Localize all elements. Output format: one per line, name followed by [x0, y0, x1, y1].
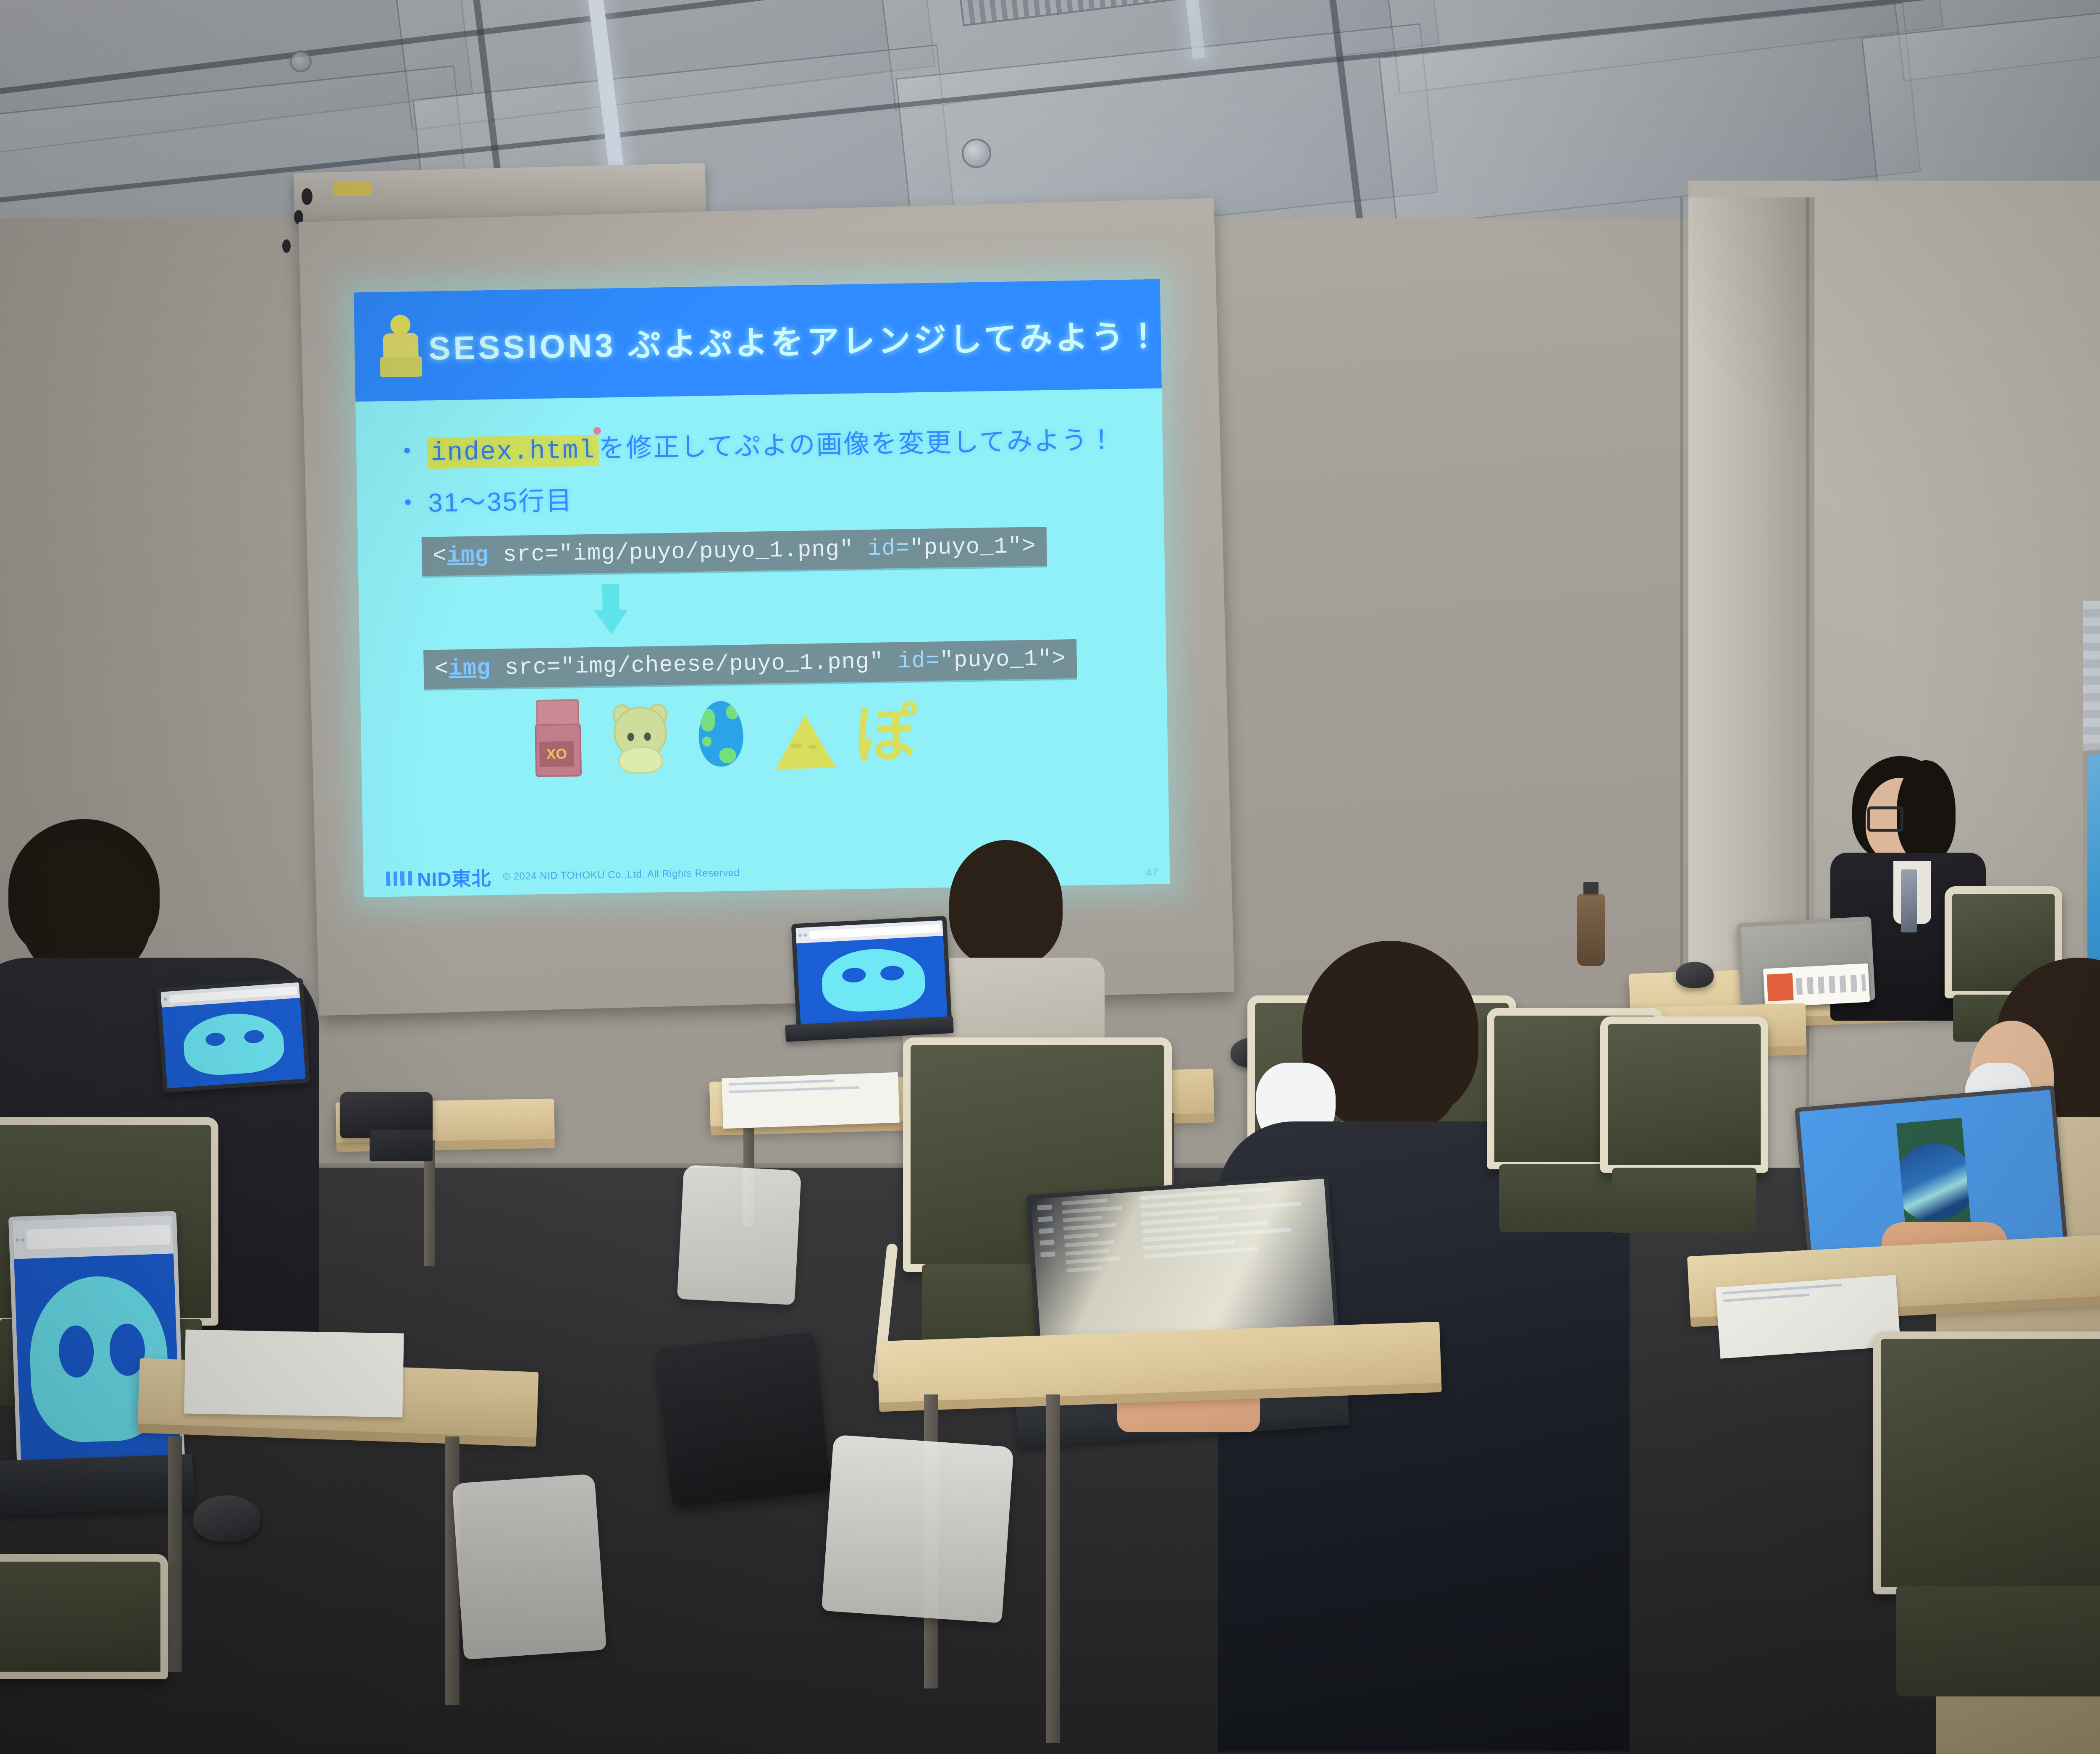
puyo-artwork [162, 998, 306, 1088]
instructor-necktie [1901, 869, 1917, 932]
glasses-icon [1867, 806, 1903, 832]
code-block-before: <img src="img/puyo/puyo_1.png" id="puyo_… [422, 527, 1047, 576]
housing-label-icon [334, 181, 372, 196]
xo-sauce-jar-icon: XO [524, 697, 588, 774]
front-left-card [184, 1329, 404, 1417]
code-attr-id: id= [853, 536, 910, 562]
slide-bullet-1: ・ index.html を修正してぷよの画像を変更してみよう！ [394, 418, 1129, 470]
seminar-room-photo: JUCB VIM 77 コンフォートホテル ワンダイズホテル SESSION3 … [0, 0, 2100, 1754]
hamster-icon [606, 696, 671, 772]
instructor-name-card [1763, 964, 1870, 1008]
code-tag-name: img [446, 543, 489, 569]
po-character-icon: ぽ [853, 692, 918, 768]
browser-dot-icon [163, 998, 167, 1001]
code-value-src: "img/puyo/puyo_1.png" [559, 537, 854, 567]
front-left-mouse[interactable] [193, 1495, 260, 1541]
code-block-after: <img src="img/cheese/puyo_1.png" id="puy… [423, 639, 1077, 689]
screen-knob-icon[interactable] [282, 239, 291, 253]
ceiling-speaker [290, 50, 312, 72]
mid-left-laptop[interactable] [791, 916, 952, 1029]
plastic-bag [822, 1435, 1014, 1623]
browser-dot-icon [21, 1238, 25, 1241]
browser-url-bar[interactable] [26, 1225, 171, 1250]
code-value-id: "puyo_1" [940, 646, 1052, 674]
bullet-2-text: 31～35行目 [428, 479, 573, 520]
browser-dot-icon [798, 934, 802, 937]
front-left-keyboard[interactable] [0, 1454, 194, 1515]
browser-screen [160, 982, 305, 1088]
po-glyph: ぽ [853, 703, 917, 767]
code-attr-id: id= [883, 648, 940, 675]
instructor-hair-back [1897, 760, 1956, 861]
small-box-item [370, 1130, 433, 1161]
slide-title: SESSION3 ぷよぷよをアレンジしてみよう！【実践】 [428, 308, 1170, 370]
code-open-bracket: < [433, 544, 447, 570]
bullet-1-rest: を修正してぷよの画像を変更してみよう！ [598, 418, 1116, 465]
browser-chrome [13, 1216, 173, 1259]
cheese-wedge-icon [771, 693, 835, 769]
window-blind[interactable] [2083, 601, 2100, 754]
slide-icon-row: XO [524, 688, 1134, 774]
jar-label-text: XO [539, 741, 574, 767]
code-attr-src: src= [489, 541, 559, 568]
mid-center-handout [722, 1072, 900, 1129]
slide-bullet-2: ・ 31～35行目 [395, 470, 1130, 520]
wave-artwork [1896, 1140, 1973, 1223]
browser-screen [795, 920, 948, 1024]
slide-title-bar: SESSION3 ぷよぷよをアレンジしてみよう！【実践】 [354, 279, 1162, 402]
right-chair[interactable] [1873, 1331, 2100, 1754]
code-attr-src: src= [491, 654, 561, 681]
down-arrow-icon [594, 584, 628, 635]
screen-knob-icon[interactable] [302, 188, 312, 205]
code-open-bracket: < [434, 656, 449, 683]
code-tag-name: img [449, 656, 491, 682]
puyo-artwork [796, 936, 948, 1024]
bullet-marker-icon: ・ [394, 430, 421, 468]
slide-body: ・ index.html を修正してぷよの画像を変更してみよう！ ・ 31～35… [355, 388, 1170, 897]
plastic-bag [452, 1474, 606, 1660]
nid-logo-icon [386, 871, 412, 886]
name-card-text [1796, 974, 1866, 995]
code-close-bracket: > [1022, 533, 1036, 559]
bullet-marker-icon: ・ [395, 482, 423, 520]
bottom-left-chair[interactable] [0, 1554, 168, 1754]
nid-logo-text: NID東北 [417, 863, 491, 892]
browser-dot-icon [804, 933, 807, 937]
code-close-bracket: > [1052, 646, 1066, 672]
slide-page-number: 47 [1146, 866, 1158, 879]
mid-right-chair[interactable] [1600, 1016, 1768, 1268]
instructor-mouse[interactable] [1676, 962, 1714, 988]
earth-globe-icon [689, 695, 753, 771]
copyright-text: © 2024 NID TOHOKU Co.,Ltd. All Rights Re… [503, 867, 740, 882]
mid-center-laptop[interactable] [156, 978, 310, 1093]
plastic-bag [677, 1165, 801, 1305]
backpack [656, 1332, 831, 1507]
code-value-id: "puyo_1" [910, 534, 1022, 561]
person-avatar-icon [378, 315, 425, 378]
front-center-head [1317, 970, 1464, 1134]
highlight-index-html: index.html [427, 435, 599, 469]
projected-slide: SESSION3 ぷよぷよをアレンジしてみよう！【実践】 ・ index.htm… [354, 279, 1170, 897]
browser-dot-icon [16, 1238, 19, 1242]
code-value-src: "img/cheese/puyo_1.png" [561, 649, 884, 680]
name-card-badge-icon [1767, 973, 1793, 1001]
